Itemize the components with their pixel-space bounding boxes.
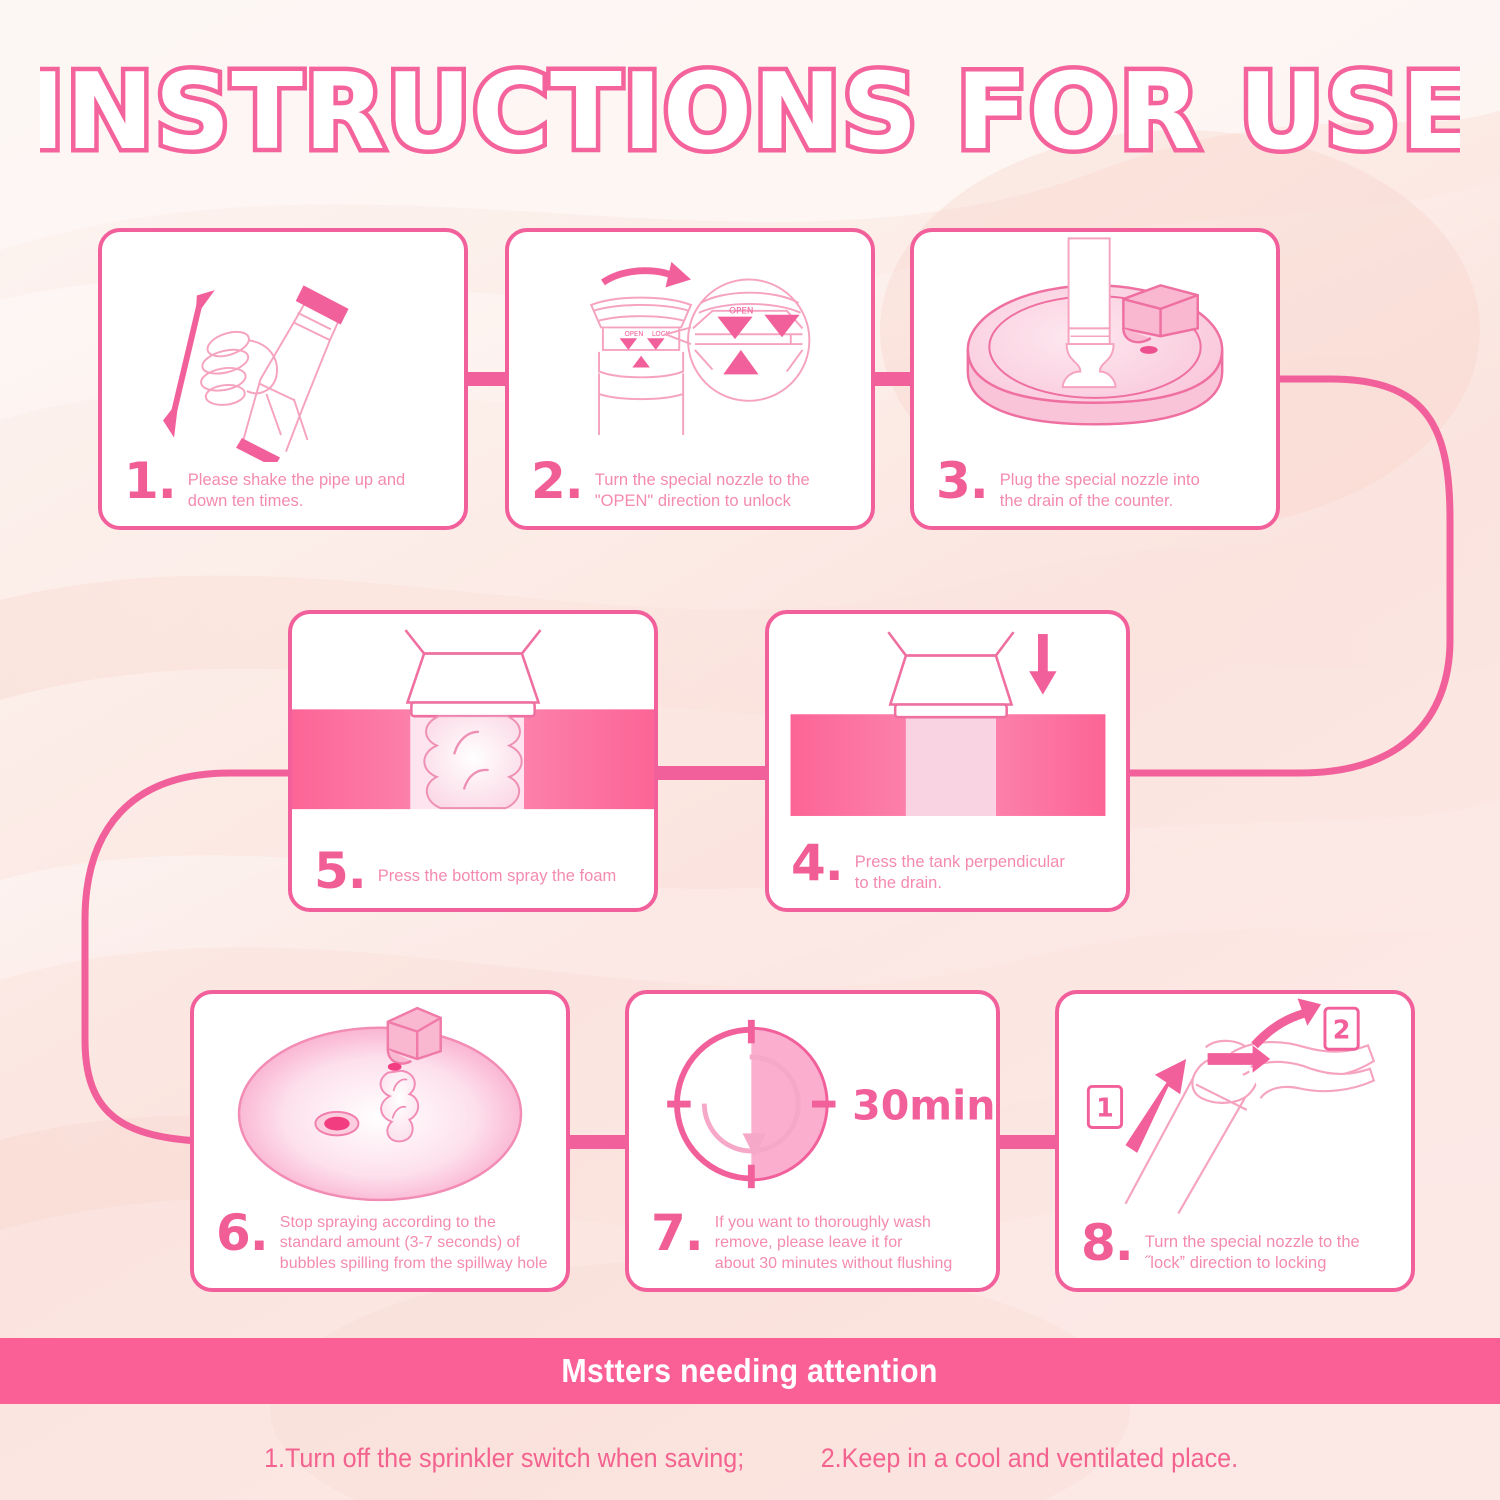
step-card-5[interactable]: 5. Press the bottom spray the foam [288,610,658,912]
step-card-4[interactable]: 4. Press the tank perpendicular to the d… [765,610,1130,912]
clock-timer-icon: 30min [629,994,996,1216]
step-caption-2: 2. Turn the special nozzle to the "OPEN"… [509,458,871,512]
connector-bar-5-4 [657,766,767,780]
connector-bar-1-2 [466,372,508,386]
note-item-1: 1.Turn off the sprinkler switch when sav… [265,1443,745,1474]
step-caption-4: 4. Press the tank perpendicular to the d… [769,840,1126,894]
step-caption-7: 7. If you want to thoroughly wash remove… [629,1210,996,1274]
foam-in-pipe-icon [292,614,654,836]
marker-one: 1 [1096,1093,1114,1123]
connector-bar-2-3 [873,372,913,386]
step-card-2[interactable]: OPEN LOCK OPEN 2. Turn [505,228,875,530]
step-number-5: 5. [308,848,366,894]
step-card-7[interactable]: 30min 7. If you want to thoroughly wash … [625,990,1000,1292]
step-caption-5: 5. Press the bottom spray the foam [292,848,654,894]
connector-bar-6-7 [567,1135,628,1149]
attention-notes: 1.Turn off the sprinkler switch when sav… [0,1430,1500,1486]
step-number-3: 3. [930,458,988,504]
attention-banner: Mstters needing attention [0,1338,1500,1404]
step-text-4: Press the tank perpendicular to the drai… [855,840,1065,894]
open-label: OPEN [729,307,753,317]
step-number-4: 4. [785,840,843,886]
step-text-5: Press the bottom spray the foam [378,848,616,887]
title-text: INSTRUCTIONS FOR USE [40,56,1460,171]
step-text-3: Plug the special nozzle into the drain o… [1000,458,1200,512]
basin-overflow-foam-icon [194,994,566,1216]
connector-bar-7-8 [997,1135,1058,1149]
svg-text:INSTRUCTIONS FOR USE: INSTRUCTIONS FOR USE [40,56,1460,171]
press-tank-down-arrow-icon [769,614,1126,836]
step-number-1: 1. [118,458,176,504]
step-text-8: Turn the special nozzle to the ˝lockˮ di… [1145,1220,1360,1274]
note-item-2: 2.Keep in a cool and ventilated place. [820,1443,1237,1474]
step-text-2: Turn the special nozzle to the "OPEN" di… [595,458,810,512]
step-caption-1: 1. Please shake the pipe up and down ten… [102,458,464,512]
step-text-1: Please shake the pipe up and down ten ti… [188,458,405,512]
attention-heading: Mstters needing attention [562,1352,938,1390]
step-number-6: 6. [210,1210,268,1256]
nozzle-into-drain-icon [914,232,1276,462]
hand-shaking-bottle-icon [102,232,464,462]
step-card-8[interactable]: 1 2 8. Turn the special nozzle to the ˝l… [1055,990,1415,1292]
nozzle-open-magnifier-icon: OPEN LOCK OPEN [509,232,871,462]
step-card-1[interactable]: 1. Please shake the pipe up and down ten… [98,228,468,530]
step-text-6: Stop spraying according to the standard … [280,1210,548,1274]
page-title: INSTRUCTIONS FOR USE [0,56,1500,171]
step-text-7: If you want to thoroughly wash remove, p… [715,1210,952,1274]
step-caption-8: 8. Turn the special nozzle to the ˝lockˮ… [1059,1220,1411,1274]
step-number-8: 8. [1075,1220,1133,1266]
step-number-7: 7. [645,1210,703,1256]
duration-badge: 30min [852,1082,995,1130]
open-small-label: OPEN [624,330,643,338]
step-caption-6: 6. Stop spraying according to the standa… [194,1210,566,1274]
hand-locking-nozzle-icon: 1 2 [1059,994,1411,1216]
marker-two: 2 [1333,1015,1351,1045]
step-caption-3: 3. Plug the special nozzle into the drai… [914,458,1276,512]
step-card-3[interactable]: 3. Plug the special nozzle into the drai… [910,228,1280,530]
step-number-2: 2. [525,458,583,504]
step-card-6[interactable]: 6. Stop spraying according to the standa… [190,990,570,1292]
